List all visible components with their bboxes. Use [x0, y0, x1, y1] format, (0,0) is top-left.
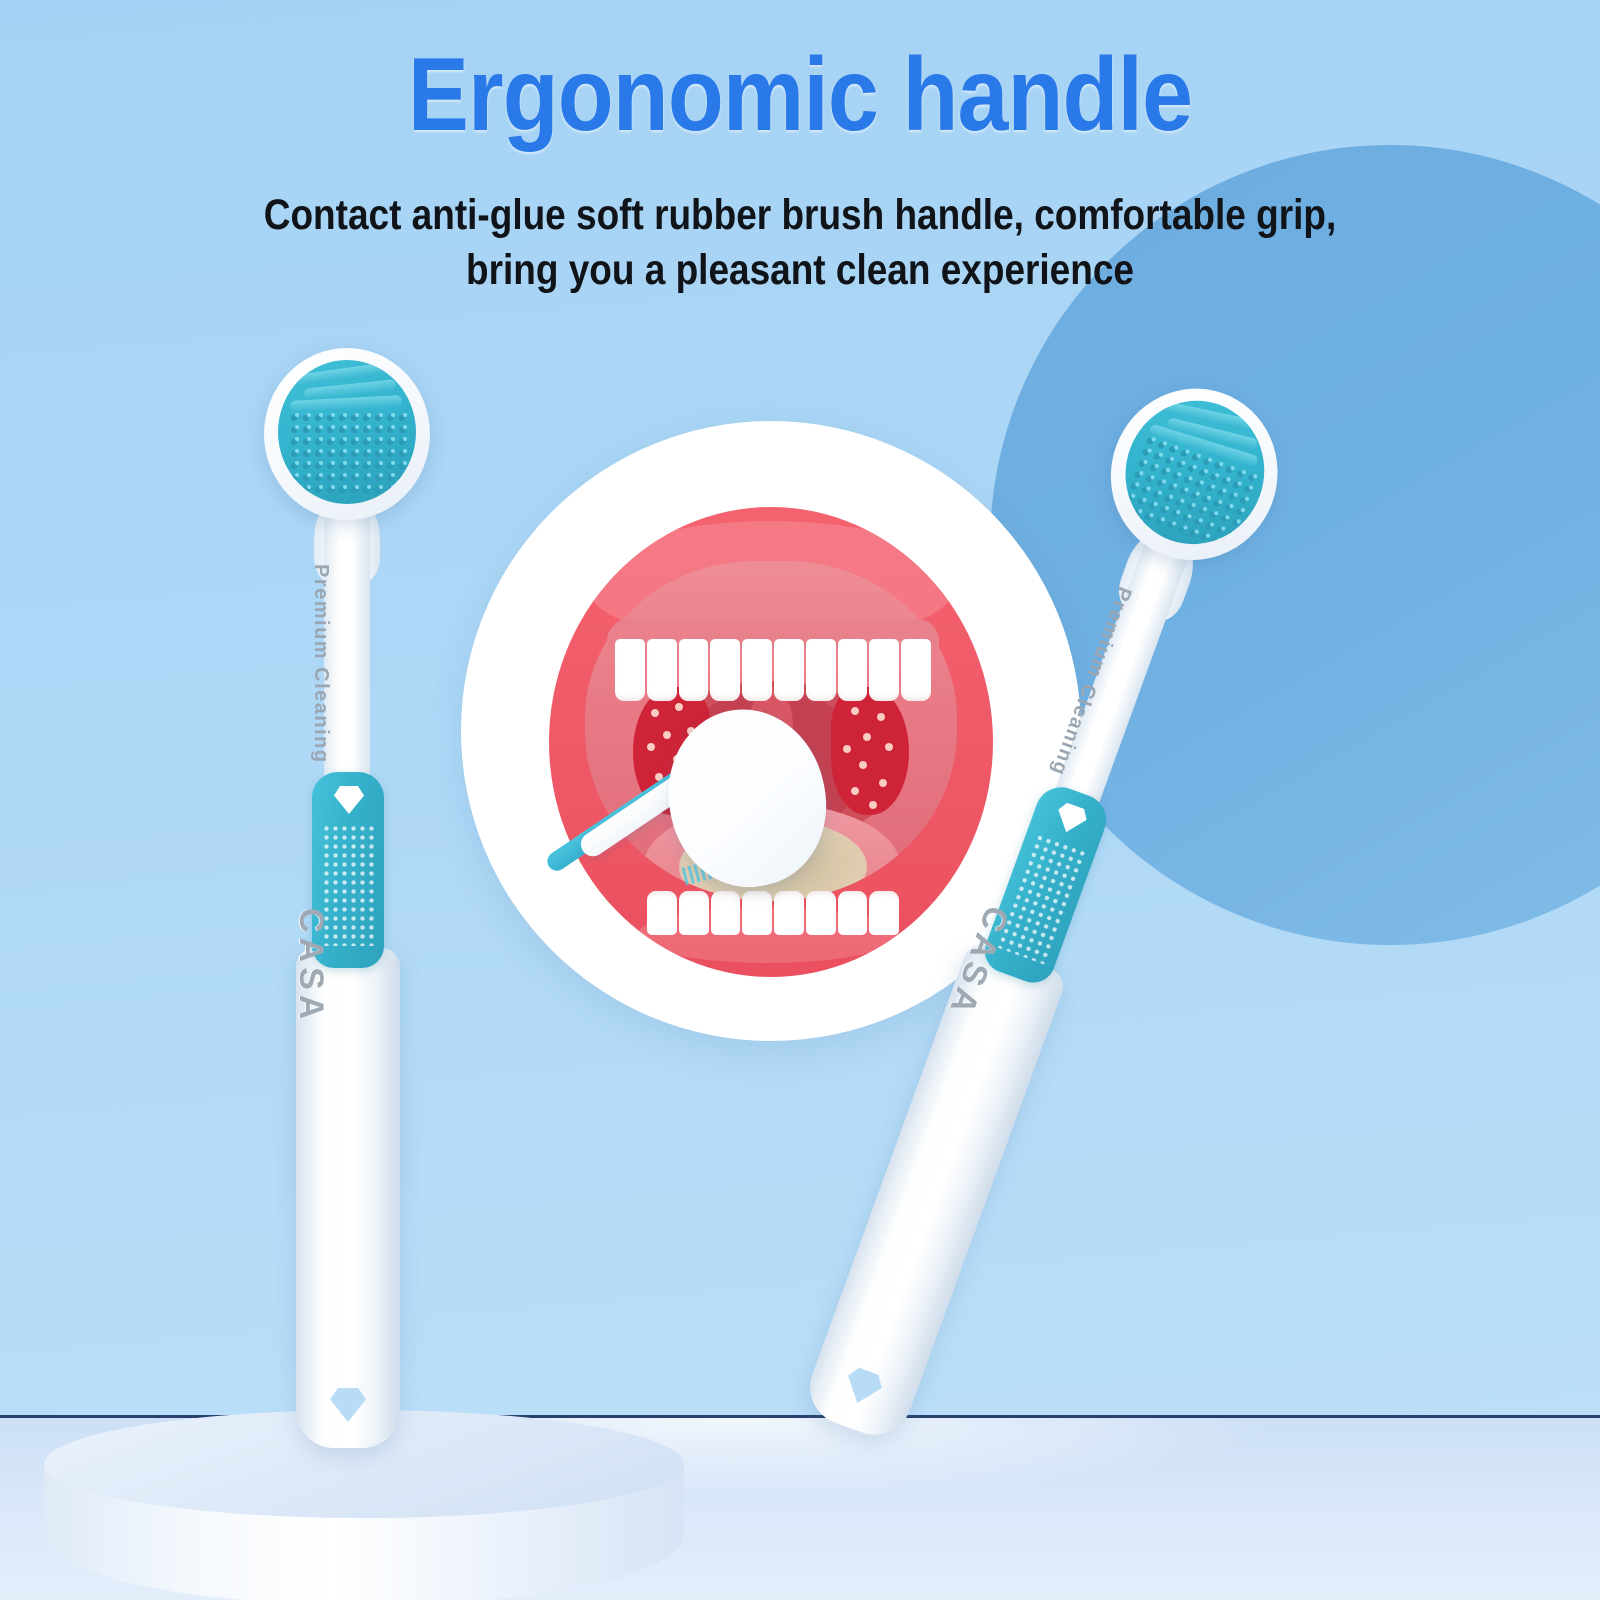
page-title: Ergonomic handle	[96, 42, 1504, 148]
tooth	[647, 639, 677, 701]
lower-lip-highlight	[637, 907, 899, 963]
grip-texture-icon	[996, 832, 1087, 964]
subtitle-line-1: Contact anti-glue soft rubber brush hand…	[241, 188, 1359, 243]
tongue-scraper-head	[264, 348, 430, 520]
tooth	[679, 639, 709, 701]
neck-label: Premium Cleaning	[309, 564, 332, 784]
brush-neck	[1048, 527, 1194, 825]
tooth	[710, 639, 740, 701]
tooth	[615, 639, 645, 701]
upper-teeth	[615, 639, 931, 701]
scraper-bars-icon	[278, 360, 416, 414]
toothbrush-left[interactable]: Premium Cleaning CASA	[252, 348, 442, 1468]
tooth	[742, 639, 772, 701]
diamond-cutout-icon	[334, 786, 364, 814]
silicone-pad	[1105, 381, 1284, 564]
diamond-cutout-icon	[1052, 801, 1090, 838]
tooth	[774, 639, 804, 701]
brand-label: CASA	[291, 908, 330, 1128]
silicone-pad	[278, 360, 416, 504]
tooth	[806, 639, 836, 701]
tooth	[901, 639, 931, 701]
page-subtitle: Contact anti-glue soft rubber brush hand…	[241, 188, 1359, 298]
silicone-nubs-icon	[288, 412, 406, 498]
subtitle-line-2: bring you a pleasant clean experience	[241, 243, 1359, 298]
tooth	[869, 639, 899, 701]
tooth	[838, 639, 868, 701]
product-banner: Ergonomic handle Contact anti-glue soft …	[0, 0, 1600, 1600]
tonsil-right	[831, 687, 909, 815]
